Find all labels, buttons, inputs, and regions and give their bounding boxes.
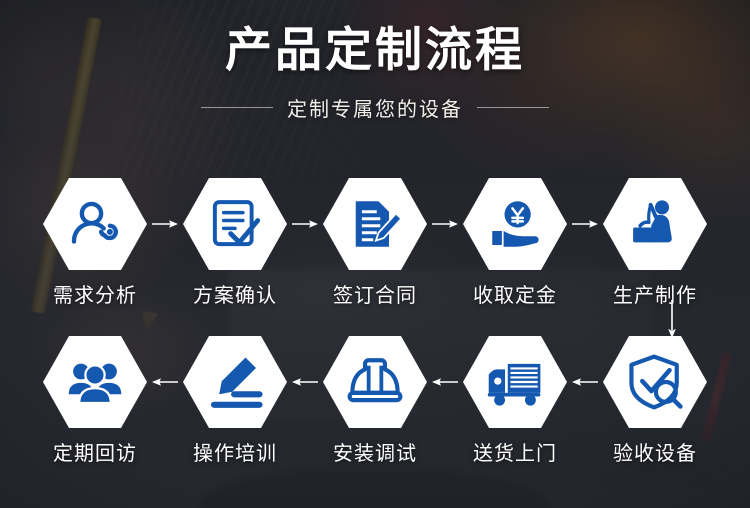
hexagon-badge — [43, 178, 147, 270]
arrow-left-icon — [432, 376, 458, 388]
flow-step-label: 方案确认 — [193, 279, 277, 308]
document-check-icon — [207, 196, 263, 252]
product-customization-flow-banner: 产品定制流程 定制专属您的设备 需求分析 — [0, 0, 750, 508]
hexagon-badge — [603, 336, 707, 428]
subtitle-rule-left — [201, 107, 273, 108]
flow-step-label: 签订合同 — [333, 279, 417, 308]
connector-arrow-right-2 — [291, 178, 319, 270]
hexagon-badge — [463, 336, 567, 428]
connector-arrow-left-4 — [571, 336, 599, 428]
arrow-right-icon — [432, 218, 458, 230]
arrow-right-icon — [292, 218, 318, 230]
hard-hat-icon — [346, 353, 404, 411]
arrow-left-icon — [292, 376, 318, 388]
people-group-icon — [67, 354, 123, 410]
flow-step-sign-contract[interactable]: 签订合同 — [319, 178, 431, 308]
flow-row-2: 定期回访 操作培训 — [0, 336, 750, 466]
page-title: 产品定制流程 — [0, 26, 750, 73]
flow-step-label: 定期回访 — [53, 437, 137, 466]
connector-arrow-down — [660, 300, 684, 338]
worker-production-icon — [627, 196, 683, 252]
flow-step-production[interactable]: 生产制作 — [599, 178, 711, 308]
flow-step-label: 安装调试 — [333, 437, 417, 466]
hand-coin-yuan-icon — [487, 196, 543, 252]
delivery-truck-icon — [486, 353, 544, 411]
hexagon-badge — [323, 336, 427, 428]
connector-arrow-right-4 — [571, 178, 599, 270]
subtitle-row: 定制专属您的设备 — [0, 93, 750, 122]
flow-step-label: 生产制作 — [613, 279, 697, 308]
connector-arrow-right-1 — [151, 178, 179, 270]
connector-arrow-right-3 — [431, 178, 459, 270]
arrow-left-icon — [152, 376, 178, 388]
hexagon-badge — [603, 178, 707, 270]
flow-step-collect-deposit[interactable]: 收取定金 — [459, 178, 571, 308]
hexagon-badge — [43, 336, 147, 428]
flow-step-label: 送货上门 — [473, 437, 557, 466]
connector-arrow-left-2 — [291, 336, 319, 428]
flow-row-1: 需求分析 方案确认 — [0, 178, 750, 308]
banner-header: 产品定制流程 定制专属您的设备 — [0, 26, 750, 122]
hexagon-badge — [463, 178, 567, 270]
shield-check-search-icon — [626, 353, 684, 411]
flow-step-plan-confirmation[interactable]: 方案确认 — [179, 178, 291, 308]
customer-support-icon — [67, 196, 123, 252]
flow-step-label: 收取定金 — [473, 279, 557, 308]
contract-pen-icon — [347, 196, 403, 252]
hexagon-badge — [323, 178, 427, 270]
pencil-training-icon — [207, 354, 263, 410]
flow-step-follow-up-visit[interactable]: 定期回访 — [39, 336, 151, 466]
flow-step-operation-training[interactable]: 操作培训 — [179, 336, 291, 466]
flow-step-equipment-acceptance[interactable]: 验收设备 — [599, 336, 711, 466]
flow-step-label: 操作培训 — [193, 437, 277, 466]
arrow-right-icon — [572, 218, 598, 230]
flow-step-home-delivery[interactable]: 送货上门 — [459, 336, 571, 466]
connector-arrow-left-1 — [151, 336, 179, 428]
subtitle-rule-right — [477, 107, 549, 108]
arrow-left-icon — [572, 376, 598, 388]
flow-step-label: 验收设备 — [613, 437, 697, 466]
page-subtitle: 定制专属您的设备 — [287, 93, 463, 122]
flow-step-installation-debugging[interactable]: 安装调试 — [319, 336, 431, 466]
hexagon-badge — [183, 178, 287, 270]
arrow-down-icon — [660, 300, 684, 338]
hexagon-badge — [183, 336, 287, 428]
flow-step-label: 需求分析 — [53, 279, 137, 308]
arrow-right-icon — [152, 218, 178, 230]
connector-arrow-left-3 — [431, 336, 459, 428]
flow-step-requirement-analysis[interactable]: 需求分析 — [39, 178, 151, 308]
